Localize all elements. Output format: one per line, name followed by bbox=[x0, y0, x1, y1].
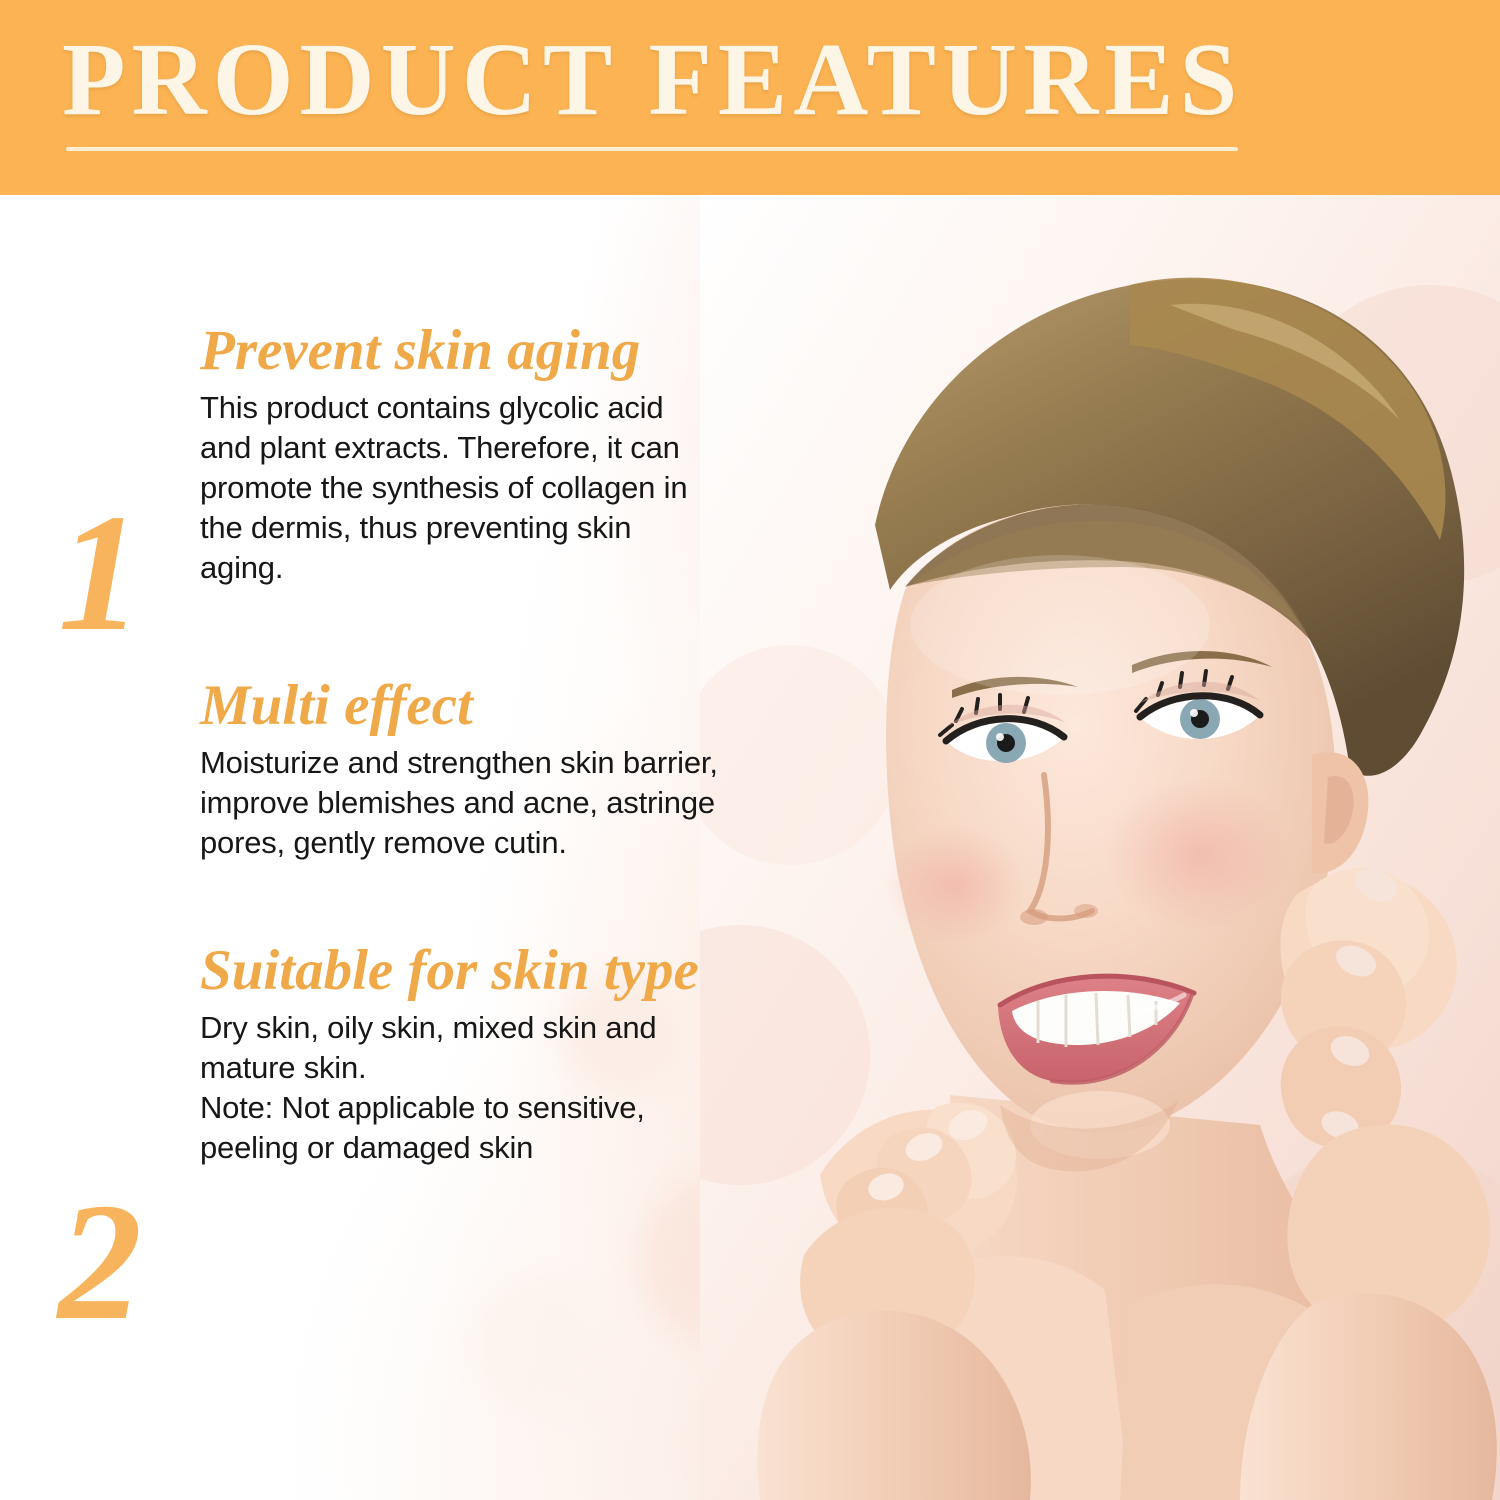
product-features-infographic: PRODUCT FEATURES bbox=[0, 0, 1500, 1500]
model-portrait-photo bbox=[700, 195, 1500, 1500]
page-title: PRODUCT FEATURES bbox=[62, 28, 1243, 132]
feature-text-3b: Note: Not applicable to sensitive, peeli… bbox=[200, 1088, 720, 1168]
feature-body-3: Suitable for skin type Dry skin, oily sk… bbox=[200, 940, 720, 1168]
feature-text-3a: Dry skin, oily skin, mixed skin and matu… bbox=[200, 1008, 720, 1088]
feature-number-2: 2 bbox=[58, 1187, 142, 1337]
feature-text-1: This product contains glycolic acid and … bbox=[200, 388, 720, 588]
feature-body-2: Multi effect Moisturize and strengthen s… bbox=[200, 675, 720, 863]
feature-heading-1: Prevent skin aging bbox=[200, 320, 720, 382]
feature-heading-2: Multi effect bbox=[200, 675, 720, 737]
header-banner: PRODUCT FEATURES bbox=[0, 0, 1500, 195]
feature-heading-3: Suitable for skin type bbox=[200, 940, 720, 1002]
features-list: 1 Prevent skin aging This product contai… bbox=[0, 195, 760, 1500]
title-underline-rule bbox=[66, 147, 1238, 151]
feature-body-1: Prevent skin aging This product contains… bbox=[200, 320, 720, 588]
feature-text-2: Moisturize and strengthen skin barrier, … bbox=[200, 743, 720, 863]
feature-number-1: 1 bbox=[58, 498, 142, 648]
